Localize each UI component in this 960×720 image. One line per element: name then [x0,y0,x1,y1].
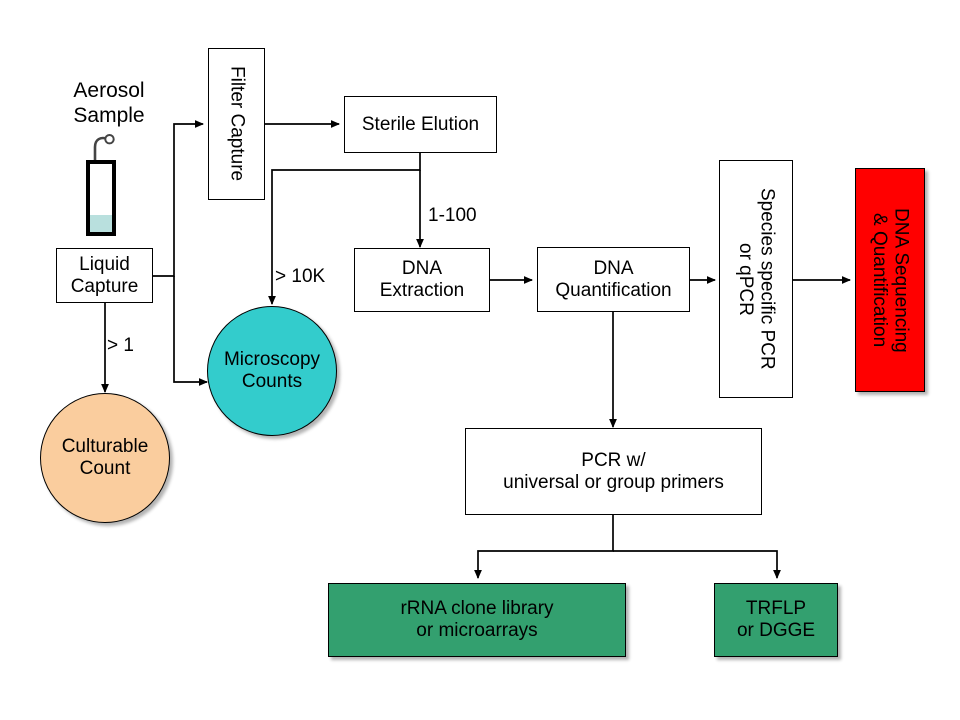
node-pcr-universal-primers[interactable]: PCR w/ universal or group primers [465,428,762,515]
aerosol-sampler-icon [78,134,124,244]
node-dna-extraction[interactable]: DNA Extraction [354,248,490,312]
node-culturable-count[interactable]: Culturable Count [40,393,170,523]
sampler-tube [86,160,116,236]
node-microscopy-counts[interactable]: Microscopy Counts [207,306,337,436]
edge-label-greater-than-10k: > 10K [275,266,325,288]
node-liquid-capture[interactable]: Liquid Capture [56,248,153,303]
node-species-specific-pcr[interactable]: Species specific PCR or qPCR [719,160,793,398]
node-sterile-elution[interactable]: Sterile Elution [344,96,497,153]
node-dna-sequencing-quantification[interactable]: DNA Sequencing & Quantification [855,168,925,392]
node-trflp-dgge[interactable]: TRFLP or DGGE [714,583,838,657]
node-filter-capture[interactable]: Filter Capture [208,48,265,200]
node-dna-quantification[interactable]: DNA Quantification [537,247,690,312]
sampler-liquid [90,215,112,232]
edge-pcruniversal-to-rrna [478,515,613,578]
edge-label-greater-than-1: > 1 [107,335,134,357]
edge-label-1-100: 1-100 [428,205,477,227]
edge-pcruniversal-to-trflp [613,551,777,578]
node-rrna-clone-library[interactable]: rRNA clone library or microarrays [328,583,626,657]
edge-liquid-to-microscopy [174,276,207,382]
aerosol-sample-label: Aerosol Sample [48,79,170,129]
edge-liquid-to-filter [153,124,203,276]
flowchart-canvas: Aerosol Sample Liquid Capture Filter Cap… [0,0,960,720]
